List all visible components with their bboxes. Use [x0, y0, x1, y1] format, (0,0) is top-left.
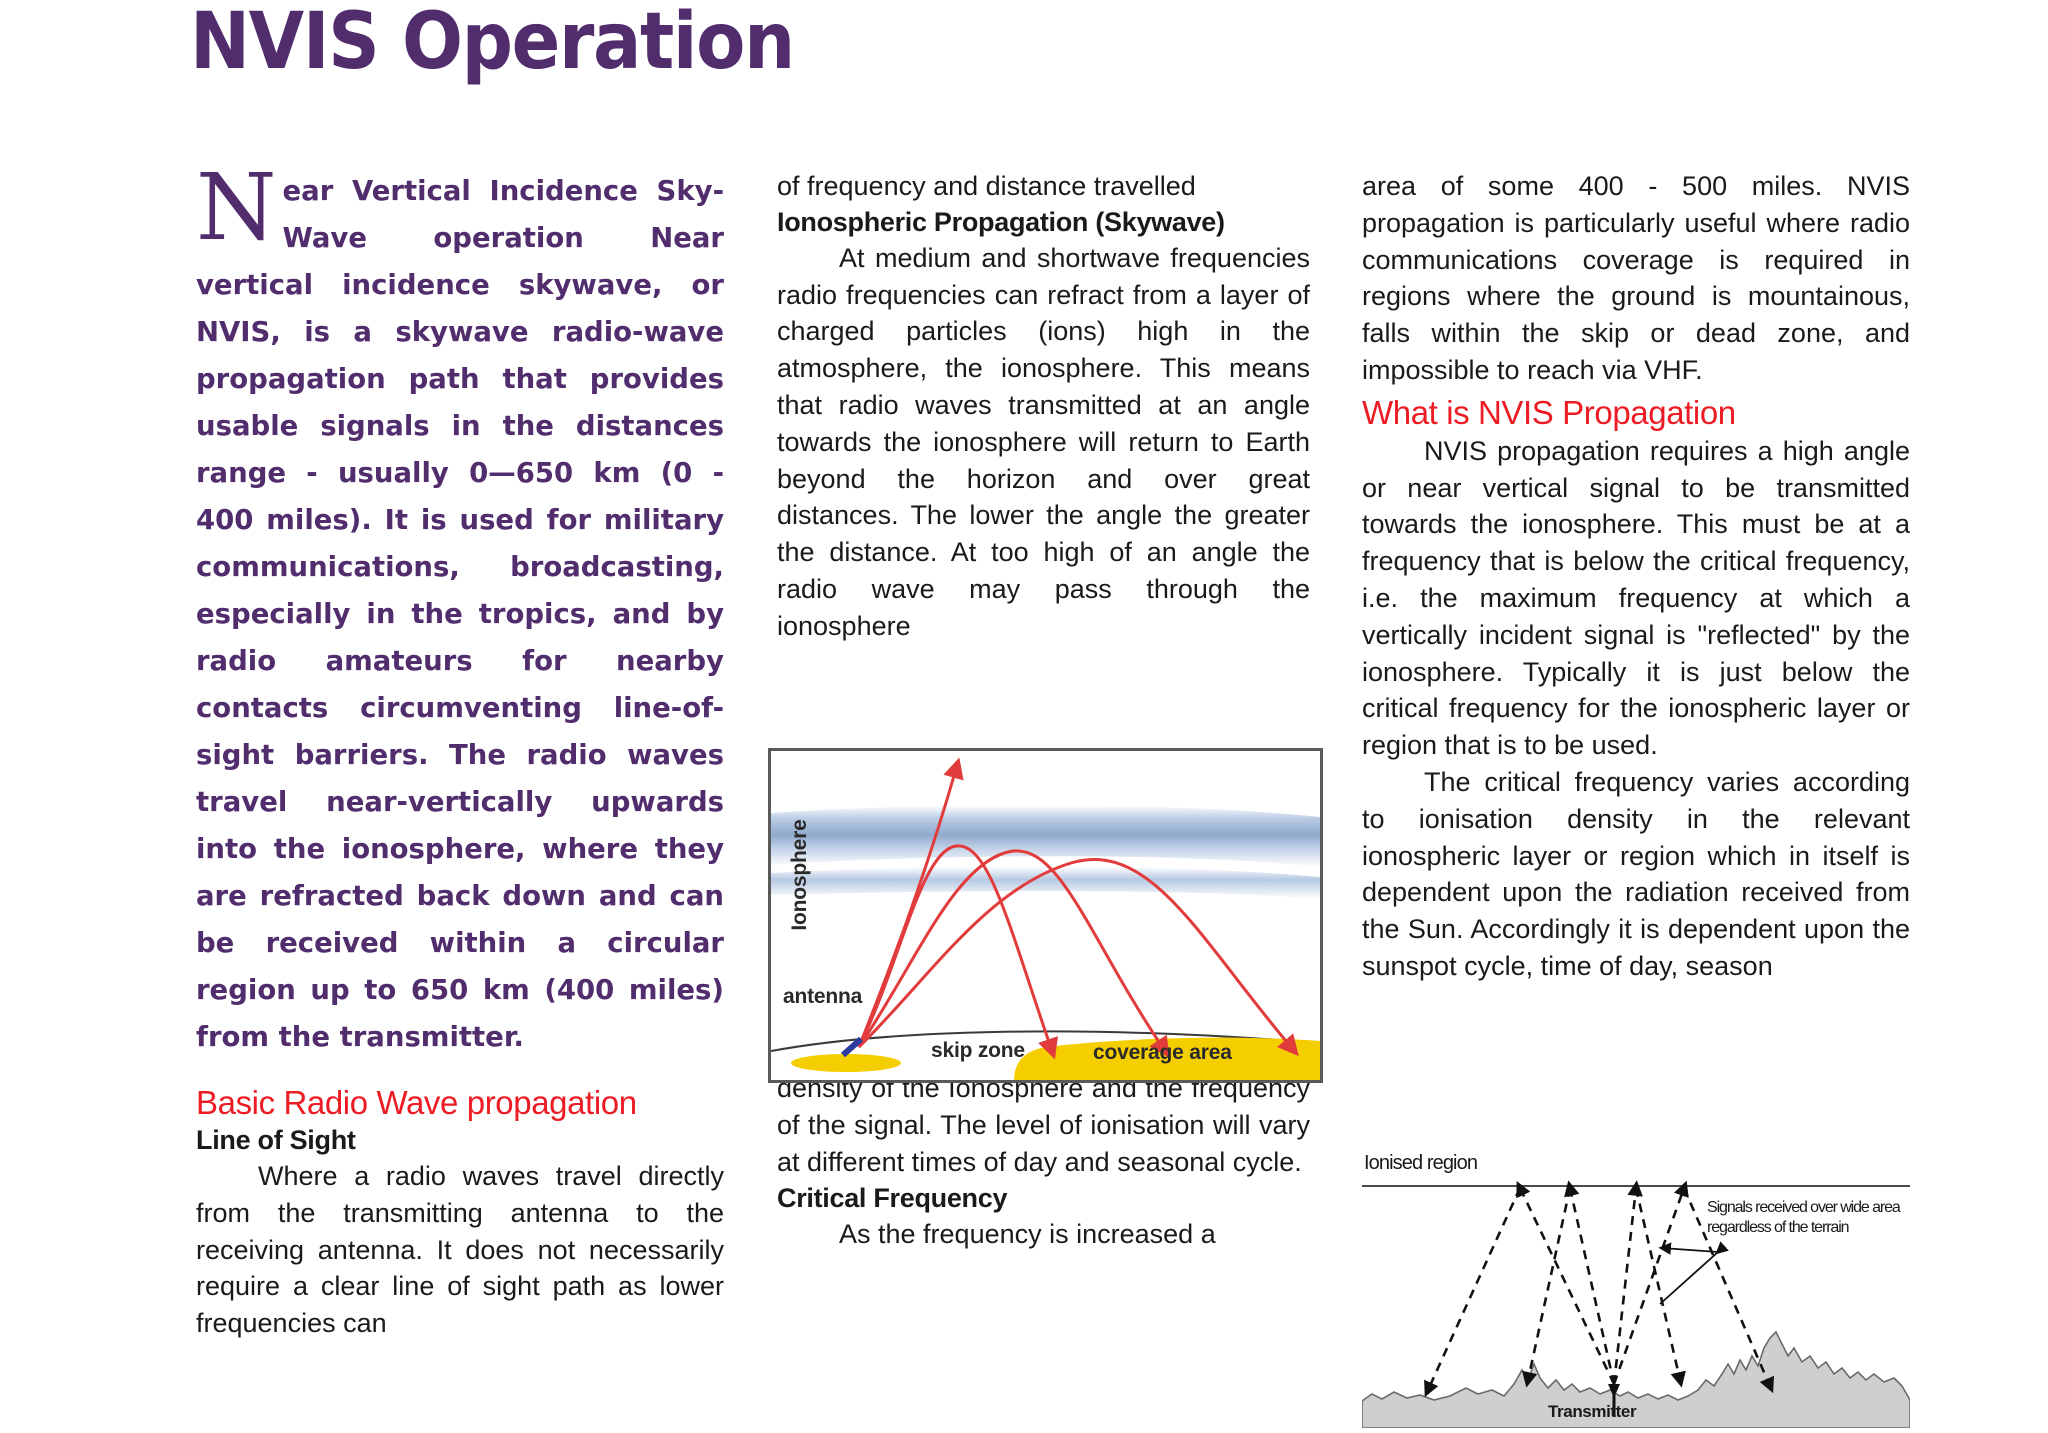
- figure2-label-signals-received: Signals received over wide area regardle…: [1707, 1198, 1902, 1238]
- figure2-label-transmitter: Transmitter: [1548, 1402, 1636, 1422]
- terrain-diagram-svg: [1362, 1152, 1910, 1428]
- figure1-label-coverage-area: coverage area: [1093, 1041, 1232, 1065]
- column-two: of frequency and distance travelled Iono…: [777, 168, 1310, 1252]
- figure2-label-ionised-region: Ionised region: [1364, 1152, 1477, 1175]
- ray-down-1: [1428, 1188, 1520, 1390]
- figure1-label-ionosphere: Ionosphere: [788, 800, 812, 950]
- intro-paragraph: Near Vertical Incidence Sky-Wave operati…: [196, 168, 724, 1061]
- heading-ionospheric-propagation: Ionospheric Propagation (Skywave): [777, 205, 1310, 240]
- heading-critical-frequency: Critical Frequency: [777, 1181, 1310, 1216]
- column-three: area of some 400 - 500 miles. NVIS propa…: [1362, 168, 1910, 985]
- ray-down-2: [1528, 1188, 1570, 1380]
- col1-paragraph-1: Where a radio waves travel directly from…: [196, 1158, 724, 1342]
- intro-paragraph-text: ear Vertical Incidence Sky-Wave operatio…: [196, 175, 724, 1053]
- col2-paragraph-1: At medium and shortwave frequencies radi…: [777, 240, 1310, 645]
- drop-cap-letter: N: [196, 172, 277, 244]
- heading-what-is-nvis-propagation: What is NVIS Propagation: [1362, 393, 1910, 433]
- col2-paragraph-3: As the frequency is increased a: [777, 1216, 1310, 1253]
- skywave-diagram-svg: [771, 751, 1320, 1080]
- figure1-label-antenna: antenna: [783, 985, 862, 1009]
- column-one: Near Vertical Incidence Sky-Wave operati…: [196, 168, 724, 1342]
- ionosphere-layer-upper: [771, 805, 1320, 867]
- ray-up-2: [1570, 1188, 1614, 1384]
- figure-nvis-terrain-coverage: Ionised region Signals received over wid…: [1362, 1152, 1910, 1428]
- ray-up-3: [1614, 1188, 1636, 1384]
- col2-continuation-text: of frequency and distance travelled: [777, 168, 1310, 205]
- figure-skywave-propagation: Ionosphere antenna skip zone coverage ar…: [768, 748, 1323, 1083]
- antenna-coverage-ellipse: [791, 1054, 901, 1072]
- col3-continuation-text: area of some 400 - 500 miles. NVIS propa…: [1362, 168, 1910, 389]
- leader-line-1: [1660, 1252, 1718, 1304]
- ray-up-1: [1520, 1188, 1614, 1384]
- heading-basic-radio-wave-propagation: Basic Radio Wave propagation: [196, 1083, 724, 1123]
- figure1-label-skip-zone: skip zone: [931, 1039, 1025, 1063]
- col3-paragraph-2: The critical frequency varies according …: [1362, 764, 1910, 985]
- col3-paragraph-1: NVIS propagation requires a high angle o…: [1362, 433, 1910, 764]
- heading-line-of-sight: Line of Sight: [196, 1123, 724, 1158]
